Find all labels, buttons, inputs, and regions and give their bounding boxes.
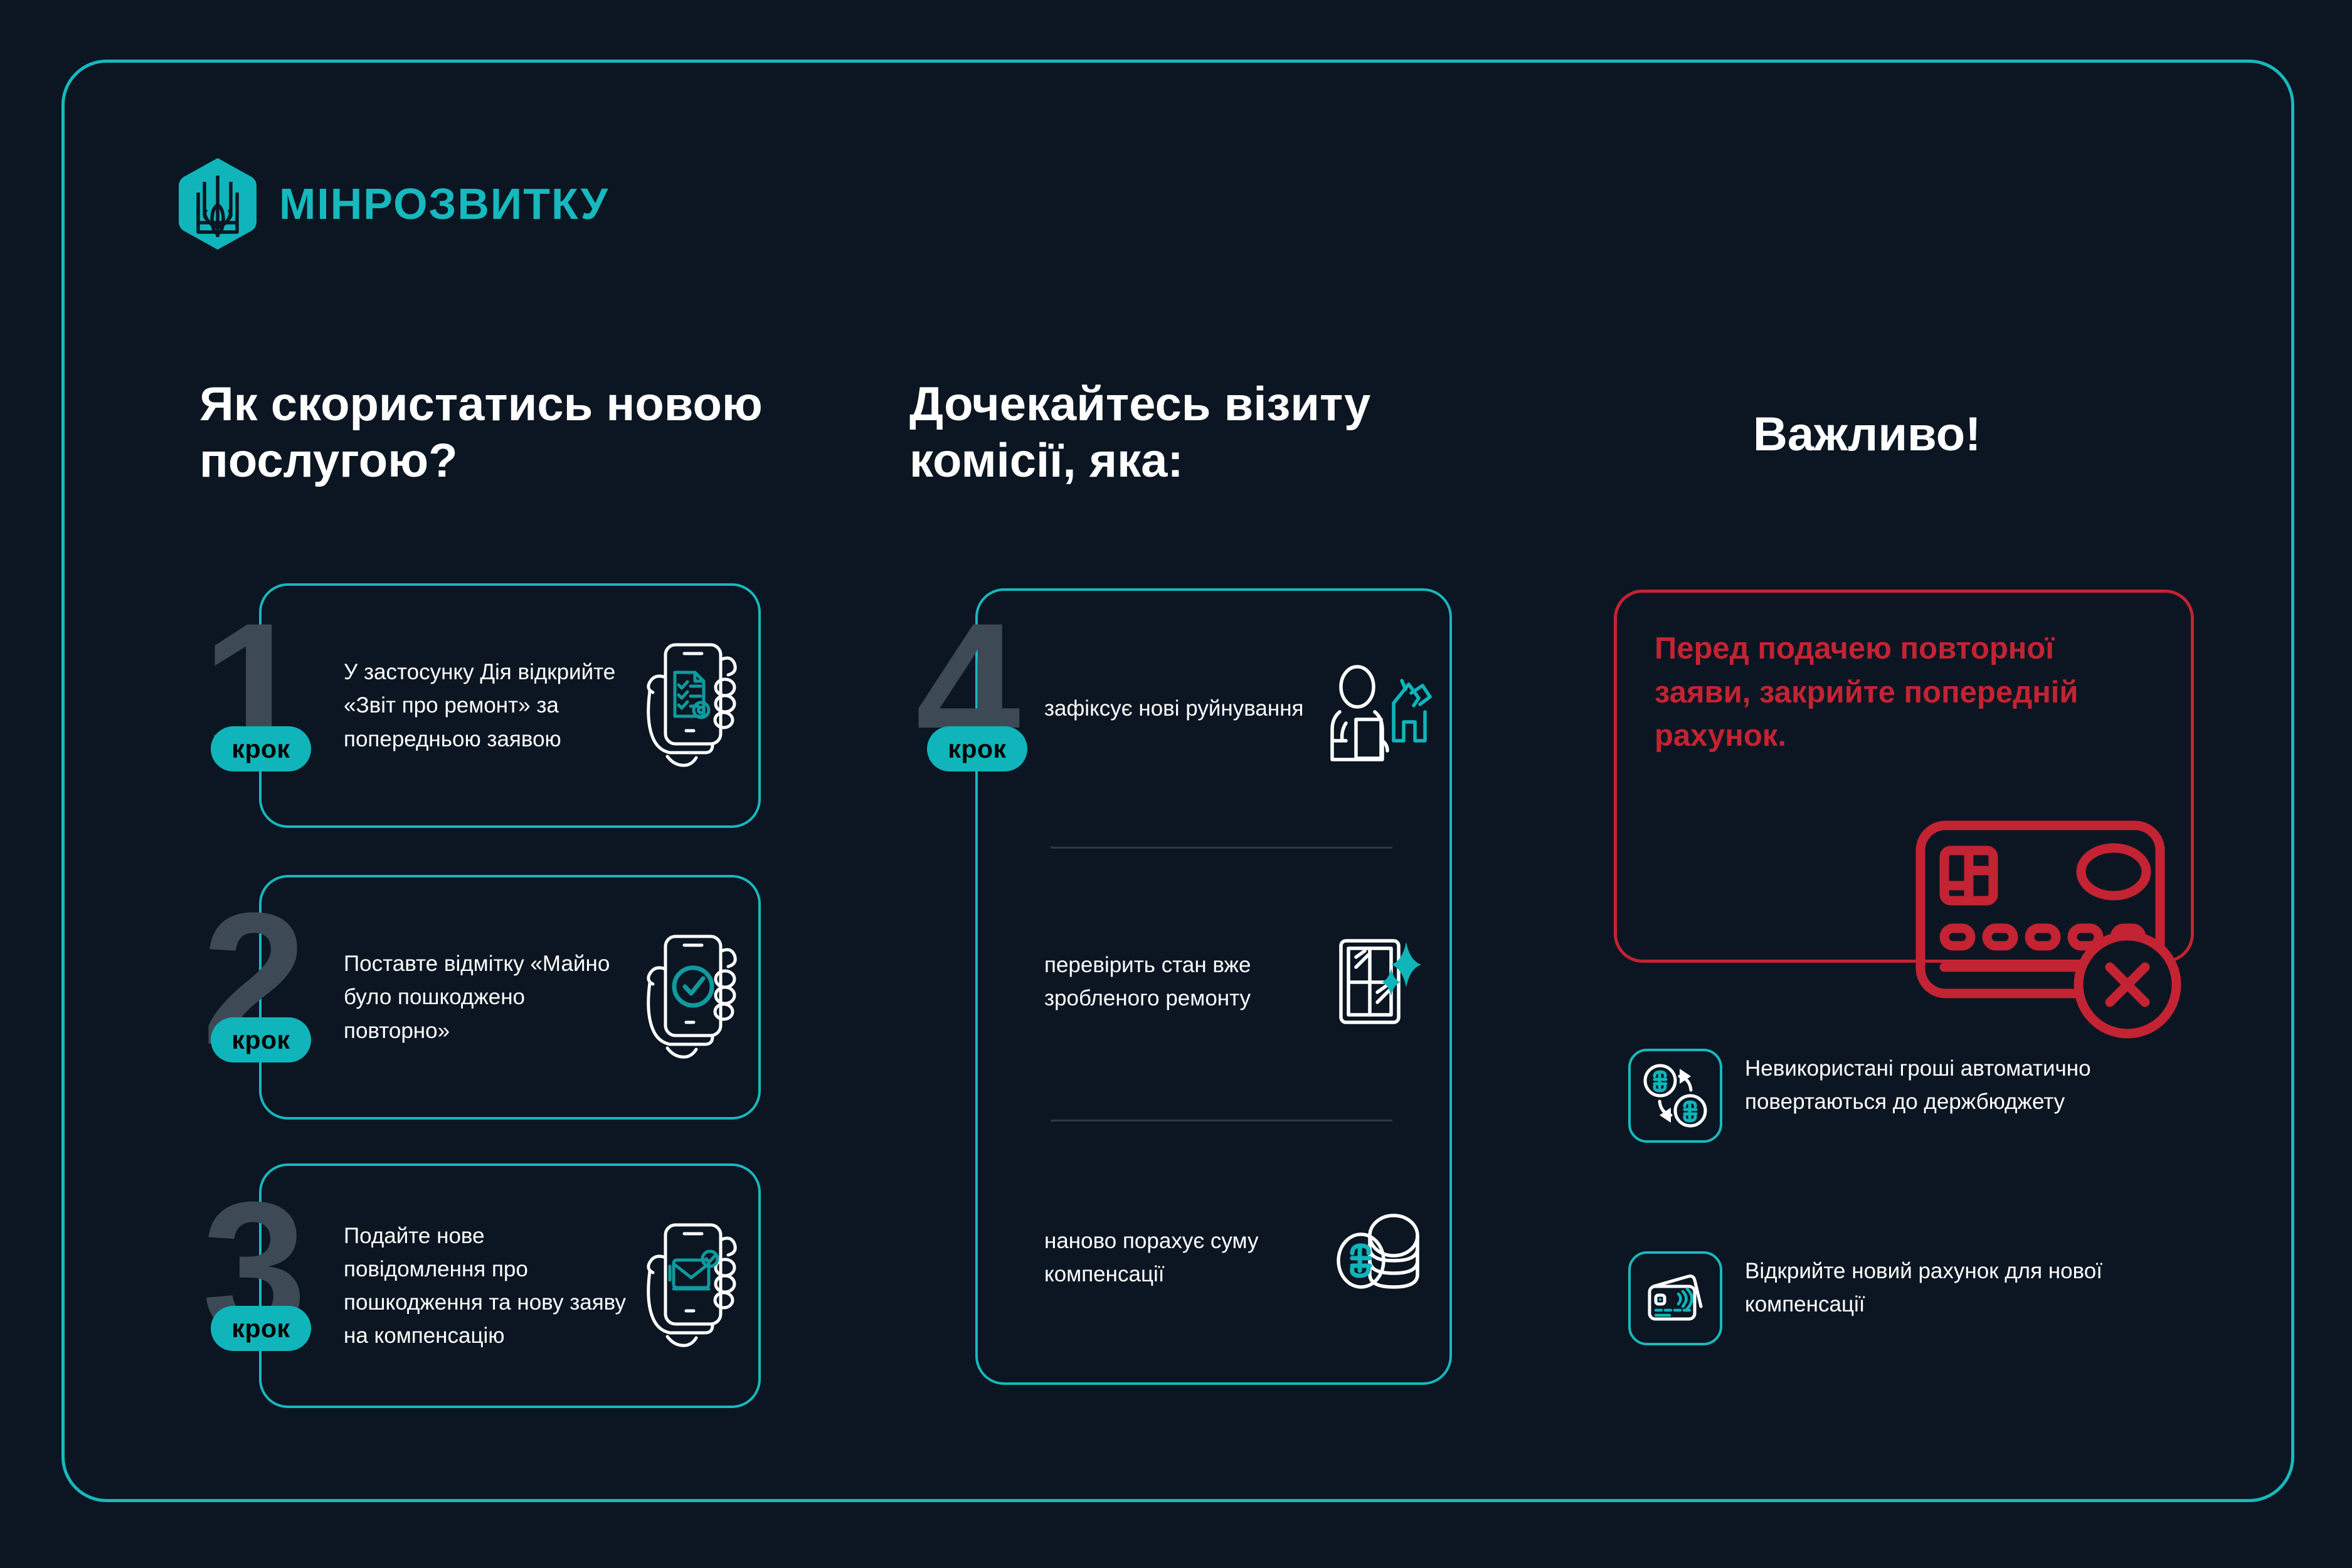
clean-window-sparkle-icon bbox=[1323, 927, 1433, 1037]
important-heading: Важливо! bbox=[1753, 406, 2255, 463]
commission-item-1: зафіксує нові руйнування bbox=[975, 633, 1452, 784]
brand-logo: МІНРОЗВИТКУ bbox=[177, 157, 609, 251]
commission-item-3: наново порахує суму компенсації bbox=[975, 1167, 1452, 1348]
step-card-3-body: Подайте нове повідомлення про пошкодженн… bbox=[259, 1163, 761, 1408]
important-note-2: Відкрийте новий рахунок для нової компен… bbox=[1628, 1251, 2205, 1345]
warning-text: Перед подачею повторної заяви, закрийте … bbox=[1655, 627, 2094, 758]
step-2-badge: крок bbox=[211, 1017, 311, 1062]
commission-item-3-text: наново порахує суму компенсації bbox=[1044, 1224, 1323, 1291]
contactless-bank-card-icon bbox=[1628, 1251, 1722, 1345]
step-3-badge: крок bbox=[211, 1306, 311, 1351]
hryvnia-coins-stack-icon bbox=[1323, 1203, 1433, 1313]
hand-phone-check-circle-icon bbox=[631, 925, 747, 1069]
hryvnia-exchange-arrows-icon bbox=[1628, 1049, 1722, 1143]
commission-heading: Дочекайтесь візиту комісії, яка: bbox=[909, 376, 1512, 489]
ukraine-trident-hexagon-icon bbox=[177, 157, 258, 251]
step-4-badge: крок bbox=[927, 726, 1027, 771]
important-note-1: Невикористані гроші автоматично повертаю… bbox=[1628, 1049, 2205, 1143]
step-card-1-body: У застосунку Дія відкрийте «Звіт про рем… bbox=[259, 583, 761, 828]
step-1-text: У застосунку Дія відкрийте «Звіт про рем… bbox=[344, 655, 627, 756]
commission-divider-2 bbox=[1051, 1120, 1392, 1121]
important-note-1-text: Невикористані гроші автоматично повертаю… bbox=[1745, 1049, 2205, 1118]
brand-name: МІНРОЗВИТКУ bbox=[279, 182, 609, 226]
hand-phone-checklist-gear-icon bbox=[631, 633, 747, 778]
step-1-badge: крок bbox=[211, 726, 311, 771]
step-card-2-body: Поставте відмітку «Майно було пошкоджено… bbox=[259, 875, 761, 1120]
step-2-text: Поставте відмітку «Майно було пошкоджено… bbox=[344, 947, 627, 1047]
important-note-2-text: Відкрийте новий рахунок для нової компен… bbox=[1745, 1251, 2205, 1321]
bank-card-close-x-icon bbox=[1894, 803, 2195, 1047]
commission-divider-1 bbox=[1051, 847, 1392, 849]
commission-item-2: перевірить стан вже зробленого ремонту bbox=[975, 891, 1452, 1073]
steps-heading: Як скористатись новою послугою? bbox=[199, 376, 764, 489]
inspector-damaged-house-icon bbox=[1323, 654, 1433, 764]
commission-item-2-text: перевірить стан вже зробленого ремонту bbox=[1044, 948, 1323, 1015]
step-3-text: Подайте нове повідомлення про пошкодженн… bbox=[344, 1219, 627, 1353]
hand-phone-envelope-check-icon bbox=[631, 1214, 747, 1358]
commission-item-1-text: зафіксує нові руйнування bbox=[1044, 692, 1323, 725]
